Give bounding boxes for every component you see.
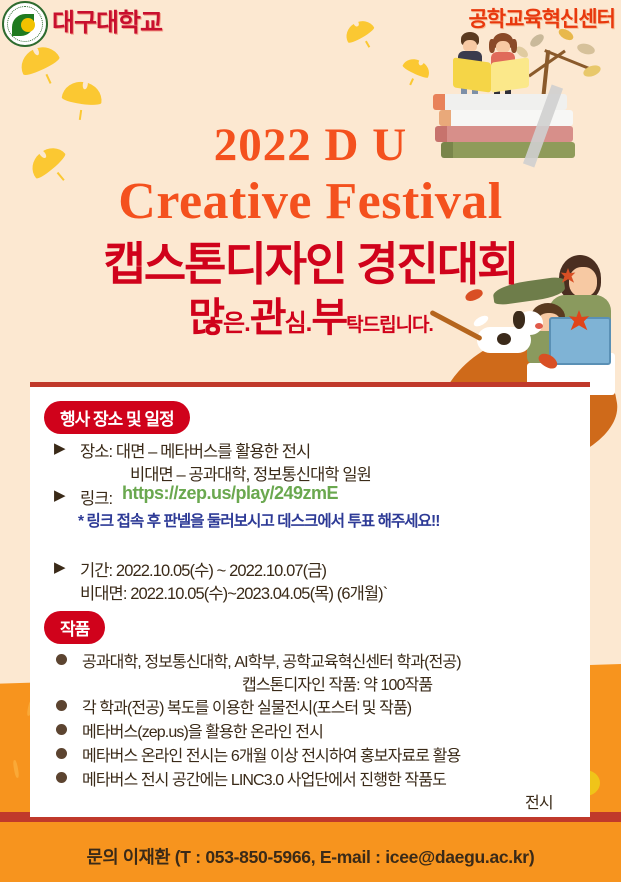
header-university-name: 대구대학교 [52,3,162,39]
title-l4-mid2: 심. [285,310,312,337]
bullet-triangle-icon: ▶ [54,439,66,457]
university-logo-icon [2,1,48,47]
schedule-pill-label: 행사 장소 및 일정 [44,401,190,434]
title-l4-big3: 부 [311,296,346,340]
title-l4-big2: 관 [250,296,285,340]
works-item-3: 메타버스(zep.us)을 활용한 온라인 전시 [82,718,323,742]
period-line2: 비대면: 2022.10.05(수)~2023.04.05(목) (6개월)` [80,580,387,604]
link-label: 링크: [80,485,112,509]
footer-contact: 문의 이재환 (T : 053-850-5966, E-mail : icee@… [0,844,621,869]
info-box: 행사 장소 및 일정 ▶ 장소: 대면 – 메타버스를 활용한 전시 비대면 –… [30,382,590,822]
child-pigtail [489,39,495,53]
bullet-dot-icon [56,748,67,759]
title-l4-big1: 많 [188,296,223,340]
bullet-triangle-icon: ▶ [54,558,66,576]
title-line-4: 많은.관심.부탁드립니다. [0,285,621,343]
bullet-dot-icon [56,700,67,711]
works-item-5-line1: 메타버스 전시 공간에는 LINC3.0 사업단에서 진행한 작품도 [82,766,446,790]
title-line-1: 2022 D U [0,118,621,172]
child-pigtail [511,39,517,53]
works-item-1-line2: 캡스톤디자인 작품: 약 100작품 [242,671,432,695]
open-book-left-page [453,57,491,92]
leaf-icon [576,42,596,56]
title-l4-small: 탁드립니다. [346,315,433,336]
works-pill-label: 작품 [44,611,105,644]
works-section-header: 작품 [44,611,105,644]
works-item-2: 각 학과(전공) 복도를 이용한 실물전시(포스터 및 작품) [82,694,411,718]
ginkgo-leaf-icon [16,41,65,85]
bullet-dot-icon [56,772,67,783]
works-item-5-line2: 전시 [525,789,553,813]
schedule-place-line1: 장소: 대면 – 메타버스를 활용한 전시 [80,438,310,462]
schedule-place-line2: 비대면 – 공과대학, 정보통신대학 일원 [130,461,371,485]
ginkgo-leaf-icon [60,79,104,114]
zep-link[interactable]: https://zep.us/play/249zmE [122,483,338,504]
title-l4-mid1: 은. [223,310,250,337]
leaf-icon [557,27,575,43]
works-item-4: 메타버스 온라인 전시는 6개월 이상 전시하여 홍보자료로 활용 [82,742,460,766]
works-item-1-line1: 공과대학, 정보통신대학, AI학부, 공학교육혁신센터 학과(전공) [82,648,461,672]
open-book-right-page [491,57,529,92]
ginkgo-leaf-icon [342,16,379,50]
schedule-section-header: 행사 장소 및 일정 [44,401,190,434]
vote-note: * 링크 접속 후 판넬을 둘러보시고 데스크에서 투표 해주세요!! [78,509,440,531]
period-line1: 기간: 2022.10.05(수) ~ 2022.10.07(금) [80,557,326,581]
bullet-triangle-icon: ▶ [54,486,66,504]
title-line-2: Creative Festival [0,172,621,231]
bullet-dot-icon [56,724,67,735]
leaf-icon [528,32,546,49]
bullet-dot-icon [56,654,67,665]
poster-root: 문의 이재환 (T : 053-850-5966, E-mail : icee@… [0,0,621,882]
